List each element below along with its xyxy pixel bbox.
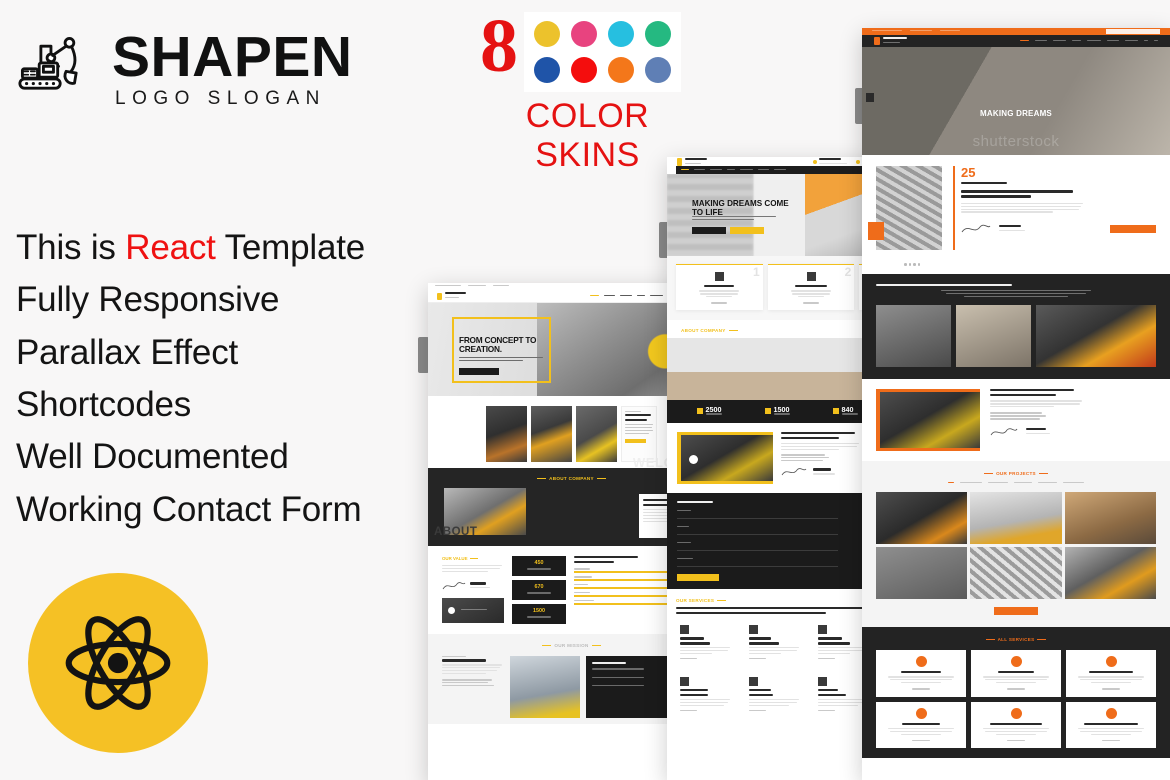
feature-text-pre: This is bbox=[16, 228, 125, 267]
service-item[interactable] bbox=[745, 672, 808, 719]
feature-list: This is React Template Fully Responsive … bbox=[16, 222, 365, 536]
projects-label: OUR PROJECTS bbox=[996, 471, 1036, 476]
feature-item: This is React Template bbox=[16, 222, 365, 274]
swatch-red bbox=[571, 57, 597, 83]
feature-highlight: React bbox=[125, 228, 215, 267]
swatch-panel bbox=[524, 12, 681, 92]
mock-right-topbar bbox=[862, 28, 1170, 35]
project-thumb[interactable] bbox=[876, 547, 967, 599]
feature-item: Well Documented bbox=[16, 431, 365, 483]
stat-value: 2500 bbox=[706, 406, 722, 413]
service-item[interactable] bbox=[876, 650, 966, 697]
swatch-slate bbox=[645, 57, 671, 83]
brand-logo: SHAPEN LOGO SLOGAN bbox=[14, 26, 353, 110]
service-item[interactable] bbox=[676, 620, 739, 667]
contact-email-label bbox=[819, 158, 841, 160]
card-number: 1 bbox=[753, 266, 760, 278]
mockup-right-orange-homepage[interactable]: MAKING DREAMS shutterstock 25 bbox=[862, 28, 1170, 780]
dialogue-image bbox=[1036, 305, 1156, 367]
promo-banner: SHAPEN LOGO SLOGAN 8 COLOR SKINS This is… bbox=[0, 0, 1170, 780]
services-label: OUR SERVICES bbox=[676, 598, 714, 603]
color-skins-block: 8 COLOR SKINS bbox=[480, 12, 695, 175]
mock-right-projects-section: OUR PROJECTS bbox=[862, 461, 1170, 627]
mock-right-best-section bbox=[862, 379, 1170, 461]
logo-name: SHAPEN bbox=[112, 30, 353, 84]
about-label: ABOUT COMPANY bbox=[681, 328, 726, 333]
project-thumb[interactable] bbox=[970, 492, 1061, 544]
swatch-orange bbox=[608, 57, 634, 83]
card-number: 2 bbox=[845, 266, 852, 278]
worker-image bbox=[486, 406, 527, 462]
mock-right-navbar[interactable] bbox=[862, 35, 1170, 47]
value-label: OUR VALUE bbox=[442, 556, 468, 561]
hero-readmore-button[interactable] bbox=[692, 227, 726, 234]
service-icon bbox=[1106, 656, 1117, 667]
project-thumb[interactable] bbox=[1065, 492, 1156, 544]
skins-count: 8 bbox=[480, 12, 524, 79]
service-item[interactable] bbox=[745, 620, 808, 667]
hero-title: MAKING DREAMS COME TO LIFE bbox=[692, 199, 790, 218]
about-us-more-button[interactable] bbox=[1110, 225, 1156, 233]
hero-contact-button[interactable] bbox=[730, 227, 764, 234]
feature-text-post: Template bbox=[216, 228, 365, 267]
feature-item: Working Contact Form bbox=[16, 484, 365, 536]
service-icon bbox=[1011, 708, 1022, 719]
service-item[interactable] bbox=[876, 702, 966, 749]
swatch-blue bbox=[534, 57, 560, 83]
stat-value: 670 bbox=[535, 585, 544, 590]
project-thumb[interactable] bbox=[1065, 547, 1156, 599]
service-item[interactable] bbox=[676, 672, 739, 719]
gallery-info-card bbox=[621, 406, 657, 462]
dialogue-image bbox=[876, 305, 951, 367]
excavator-icon bbox=[14, 26, 98, 110]
swatch-pink bbox=[571, 21, 597, 47]
mock-right-dialogue-section bbox=[862, 274, 1170, 379]
provide-workers-image bbox=[677, 432, 773, 484]
service-icon bbox=[1106, 708, 1117, 719]
mock-right-all-services-section: ALL SERVICES bbox=[862, 627, 1170, 759]
experience-number: 25 bbox=[961, 166, 1156, 179]
hero-prev-arrow[interactable] bbox=[866, 93, 874, 102]
experience-building-image bbox=[876, 166, 942, 250]
swatch-green bbox=[645, 21, 671, 47]
service-card[interactable]: 1 bbox=[676, 264, 763, 310]
worker-image bbox=[531, 406, 572, 462]
all-services-section-title: ALL SERVICES bbox=[876, 637, 1156, 642]
slider-dots[interactable] bbox=[862, 263, 1170, 274]
project-filters[interactable] bbox=[876, 482, 1156, 485]
crane-icon bbox=[807, 272, 816, 281]
service-icon bbox=[916, 708, 927, 719]
project-thumb[interactable] bbox=[970, 547, 1061, 599]
stat-value: 1500 bbox=[533, 609, 545, 614]
logo-slogan: LOGO SLOGAN bbox=[112, 88, 353, 110]
hero-subtext bbox=[459, 357, 543, 363]
mission-label: OUR MISSION bbox=[554, 643, 588, 648]
about-label: ABOUT COMPANY bbox=[549, 476, 594, 481]
feature-item: Fully Responsive bbox=[16, 274, 365, 326]
contact-title bbox=[677, 501, 713, 503]
hero-title: FROM CONCEPT TO CREATION. bbox=[459, 336, 567, 355]
service-item[interactable] bbox=[1066, 702, 1156, 749]
load-more-button[interactable] bbox=[994, 607, 1038, 615]
mock-right-hero: MAKING DREAMS shutterstock bbox=[862, 47, 1170, 155]
stat-value: 1500 bbox=[774, 406, 790, 413]
stat-value: 840 bbox=[842, 406, 858, 413]
project-thumb[interactable] bbox=[876, 492, 967, 544]
dialogue-image bbox=[956, 305, 1031, 367]
all-services-label: ALL SERVICES bbox=[998, 637, 1035, 642]
worker-image bbox=[576, 406, 617, 462]
swatch-yellow bbox=[534, 21, 560, 47]
service-item[interactable] bbox=[971, 650, 1061, 697]
stock-watermark: shutterstock bbox=[973, 133, 1060, 150]
service-icon bbox=[1011, 656, 1022, 667]
swatch-cyan bbox=[608, 21, 634, 47]
compass-icon bbox=[715, 272, 724, 281]
hero-title: MAKING DREAMS bbox=[980, 109, 1052, 118]
react-badge bbox=[28, 573, 208, 753]
dialogue-title bbox=[876, 284, 1012, 286]
service-icon bbox=[916, 656, 927, 667]
stat-value: 450 bbox=[535, 561, 544, 566]
color-skins-title: COLOR SKINS bbox=[480, 97, 695, 175]
best-workers-image bbox=[876, 389, 980, 451]
send-message-button[interactable] bbox=[677, 574, 719, 581]
mock-right-experience-section: 25 bbox=[862, 155, 1170, 263]
feature-item: Shortcodes bbox=[16, 379, 365, 431]
service-item[interactable] bbox=[971, 702, 1061, 749]
about-watermark: ABOUT bbox=[434, 526, 477, 538]
service-card[interactable]: 2 bbox=[768, 264, 855, 310]
projects-section-title: OUR PROJECTS bbox=[876, 471, 1156, 476]
request-quote-button[interactable] bbox=[1106, 29, 1160, 34]
hero-button[interactable] bbox=[459, 368, 499, 375]
react-atom-icon bbox=[62, 607, 174, 719]
service-item[interactable] bbox=[1066, 650, 1156, 697]
feature-item: Parallax Effect bbox=[16, 327, 365, 379]
